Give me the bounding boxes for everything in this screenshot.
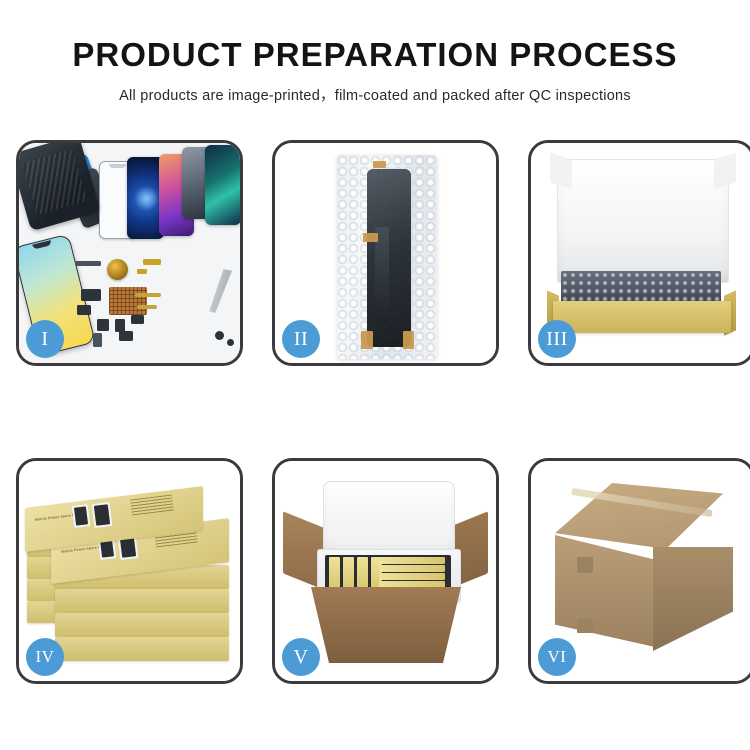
screw-icon — [227, 339, 234, 346]
speaker-coil-icon — [107, 259, 128, 280]
label-phone-image — [94, 504, 110, 526]
process-step-1: I — [16, 140, 243, 366]
stacked-box — [55, 589, 229, 613]
step-badge-3: III — [538, 320, 576, 358]
process-step-6: VI — [528, 458, 750, 684]
gold-connector — [137, 269, 147, 274]
process-step-2: II — [272, 140, 499, 366]
page-title: PRODUCT PREPARATION PROCESS — [0, 38, 750, 73]
component-chip — [93, 333, 102, 347]
gold-connector — [143, 259, 161, 265]
kraft-box-flat — [379, 573, 445, 580]
carton-side-face — [653, 547, 733, 651]
kraft-box-upright — [357, 557, 368, 591]
carton-hand-hole — [577, 619, 593, 633]
process-step-4: Mobile Phone Spare Parts Mobile Phone Sp… — [16, 458, 243, 684]
process-step-5: V — [272, 458, 499, 684]
tape-strip — [363, 233, 378, 242]
component-chip — [77, 305, 91, 315]
bubble-wrap-bag — [337, 155, 437, 359]
component-chip — [97, 319, 109, 331]
flex-cable — [137, 305, 157, 309]
step-badge-1: I — [26, 320, 64, 358]
kraft-box-upright — [343, 557, 354, 591]
screw-icon — [215, 331, 224, 340]
kraft-box-flat — [379, 565, 445, 572]
carton-hand-hole — [577, 557, 593, 573]
kraft-box-flat — [379, 557, 445, 564]
step-badge-6: VI — [538, 638, 576, 676]
step-badge-4: IV — [26, 638, 64, 676]
styrofoam-lid — [323, 481, 455, 555]
stacked-box — [55, 613, 229, 637]
kraft-box-upright — [329, 557, 340, 591]
tape-strip — [373, 161, 386, 168]
component-chip — [75, 261, 101, 266]
product-preparation-infographic: PRODUCT PREPARATION PROCESS All products… — [0, 0, 750, 750]
step-badge-5: V — [282, 638, 320, 676]
logic-board-icon — [109, 287, 147, 315]
stacked-box — [55, 637, 229, 661]
carton-body — [311, 587, 461, 663]
header: PRODUCT PREPARATION PROCESS All products… — [0, 0, 750, 105]
carton-front-face — [555, 535, 655, 647]
page-subtitle: All products are image-printed，film-coat… — [0, 84, 750, 105]
white-foam-lid — [557, 159, 729, 283]
flex-cable — [135, 293, 161, 297]
tape-strip — [403, 331, 414, 349]
kraft-box-front — [553, 301, 731, 333]
tape-strip — [361, 331, 373, 349]
bubble-wrapped-contents — [561, 271, 721, 303]
step-badge-2: II — [282, 320, 320, 358]
tweezers-icon — [202, 269, 232, 313]
label-phone-image — [74, 506, 88, 525]
process-step-3: III — [528, 140, 750, 366]
teal-phone-icon — [205, 145, 240, 225]
wrapped-phone-part — [367, 169, 411, 347]
component-chip — [119, 331, 133, 341]
kraft-box-flat — [379, 581, 445, 588]
component-chip — [81, 289, 101, 301]
process-step-grid: I II III — [16, 140, 738, 684]
component-chip — [131, 315, 144, 324]
